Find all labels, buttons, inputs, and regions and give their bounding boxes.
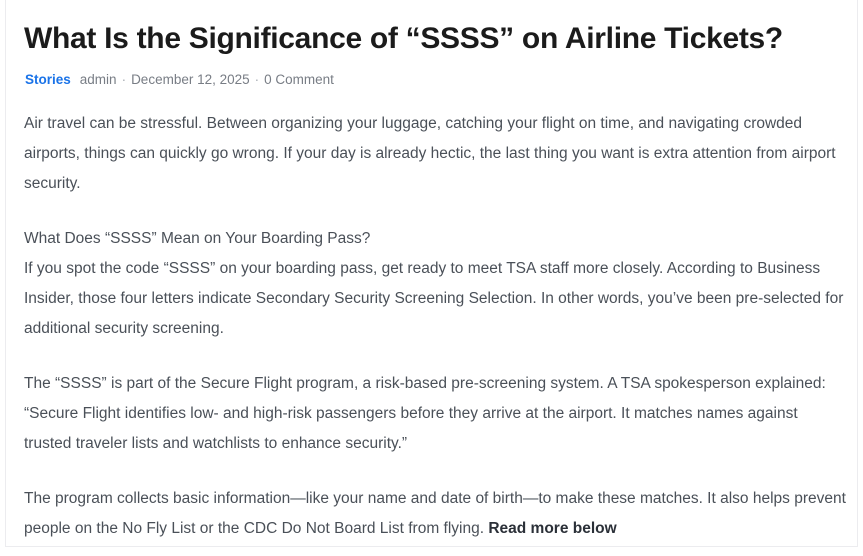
- section-heading-ssss-meaning: What Does “SSSS” Mean on Your Boarding P…: [24, 230, 370, 247]
- post-comment-count: 0 Comment: [264, 72, 334, 87]
- paragraph-program-info-text: The program collects basic information—l…: [24, 490, 846, 537]
- paragraph-ssss-explanation: If you spot the code “SSSS” on your boar…: [24, 260, 843, 337]
- meta-separator-1: ·: [117, 71, 132, 89]
- post-date: December 12, 2025: [131, 72, 250, 87]
- paragraph-secure-flight: The “SSSS” is part of the Secure Flight …: [24, 369, 846, 459]
- post-author: admin: [80, 72, 117, 87]
- meta-separator-2: ·: [250, 71, 265, 89]
- paragraph-program-info: The program collects basic information—l…: [24, 484, 846, 544]
- paragraph-boarding-pass: What Does “SSSS” Mean on Your Boarding P…: [24, 224, 846, 344]
- post-body: Air travel can be stressful. Between org…: [24, 89, 846, 544]
- page-frame: What Is the Significance of “SSSS” on Ai…: [5, 0, 858, 547]
- article-container: What Is the Significance of “SSSS” on Ai…: [24, 0, 846, 544]
- read-more-link[interactable]: Read more below: [488, 520, 616, 537]
- category-link-stories[interactable]: Stories: [25, 72, 71, 87]
- post-meta: Storiesadmin·December 12, 2025·0 Comment: [24, 58, 846, 89]
- page-title: What Is the Significance of “SSSS” on Ai…: [24, 0, 846, 58]
- paragraph-intro: Air travel can be stressful. Between org…: [24, 109, 846, 199]
